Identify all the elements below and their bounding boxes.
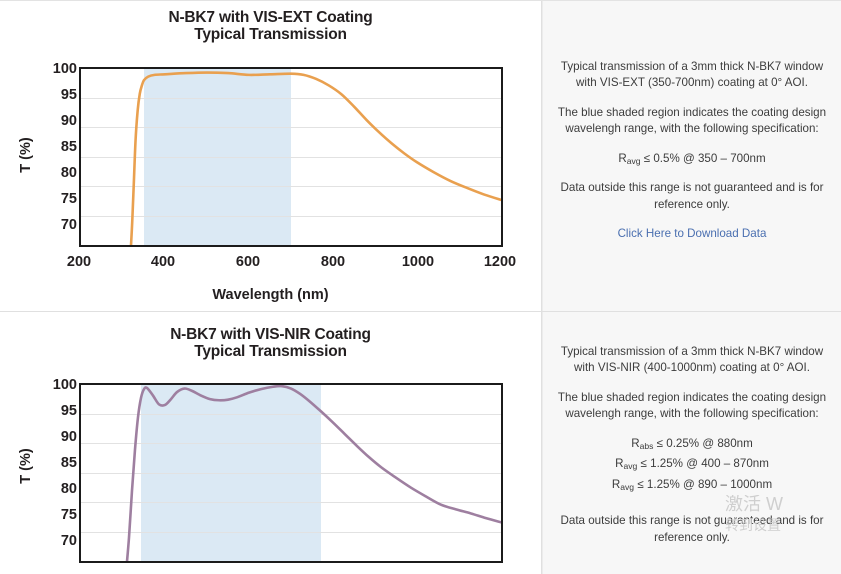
chart-title-line1: N-BK7 with VIS-EXT Coating [0,9,541,26]
chart-title-line1: N-BK7 with VIS-NIR Coating [0,326,541,343]
spec-symbol: R [618,152,626,165]
y-tick-80: 80 [61,166,77,181]
y-tick-80: 80 [61,482,77,497]
text-pane-vis-nir: Typical transmission of a 3mm thick N-BK… [542,312,841,574]
y-tick-100: 100 [53,62,77,77]
description-paragraph-1: Typical transmission of a 3mm thick N-BK… [557,59,827,92]
download-data-link[interactable]: Click Here to Download Data [618,227,767,240]
spec-value: ≤ 1.25% @ 890 – 1000nm [634,478,772,491]
y-axis-label-vis-ext: T (%) [18,125,34,185]
description-paragraph-3: Data outside this range is not guarantee… [557,513,827,546]
section-vis-nir: N-BK7 with VIS-NIR Coating Typical Trans… [0,311,841,574]
transmission-curve-vis-ext [81,69,501,245]
description-paragraph-1: Typical transmission of a 3mm thick N-BK… [557,344,827,377]
y-tick-75: 75 [61,508,77,523]
spec-line: Ravg ≤ 0.5% @ 350 – 700nm [557,151,827,167]
spec-subscript: avg [620,482,634,492]
y-tick-70: 70 [61,218,77,233]
chart-pane-vis-nir: N-BK7 with VIS-NIR Coating Typical Trans… [0,312,542,574]
x-tick-1000: 1000 [402,255,434,270]
spec-block-vis-ext: Ravg ≤ 0.5% @ 350 – 700nm [557,151,827,167]
x-tick-200: 200 [67,255,91,270]
description-paragraph-3: Data outside this range is not guarantee… [557,180,827,213]
y-tick-85: 85 [61,140,77,155]
chart-pane-vis-ext: N-BK7 with VIS-EXT Coating Typical Trans… [0,1,542,311]
spec-symbol: R [631,437,639,450]
spec-subscript: avg [627,156,641,166]
spec-subscript: avg [623,461,637,471]
x-tick-800: 800 [321,255,345,270]
spec-value: ≤ 1.25% @ 400 – 870nm [637,457,769,470]
x-tick-400: 400 [151,255,175,270]
y-tick-90: 90 [61,430,77,445]
spec-line: Ravg ≤ 1.25% @ 890 – 1000nm [557,477,827,493]
chart-title-vis-nir: N-BK7 with VIS-NIR Coating Typical Trans… [0,326,541,361]
description-paragraph-2: The blue shaded region indicates the coa… [557,105,827,138]
y-axis-label-vis-nir: T (%) [18,436,34,496]
spec-subscript: abs [640,441,654,451]
plot-area-vis-nir [79,383,503,563]
x-tick-600: 600 [236,255,260,270]
spec-value: ≤ 0.25% @ 880nm [653,437,752,450]
plot-area-vis-ext [79,67,503,247]
chart-title-line2: Typical Transmission [0,343,541,360]
description-paragraph-2: The blue shaded region indicates the coa… [557,390,827,423]
text-pane-vis-ext: Typical transmission of a 3mm thick N-BK… [542,1,841,311]
x-tick-1200: 1200 [484,255,516,270]
y-tick-95: 95 [61,88,77,103]
y-tick-85: 85 [61,456,77,471]
transmission-curve-vis-nir [81,385,501,561]
y-tick-100: 100 [53,378,77,393]
chart-title-line2: Typical Transmission [0,26,541,43]
y-tick-95: 95 [61,404,77,419]
spec-symbol: R [612,478,620,491]
x-axis-label-vis-ext: Wavelength (nm) [0,287,541,303]
y-tick-90: 90 [61,114,77,129]
spec-block-vis-nir: Rabs ≤ 0.25% @ 880nm Ravg ≤ 1.25% @ 400 … [557,436,827,493]
spec-line: Rabs ≤ 0.25% @ 880nm [557,436,827,452]
y-tick-70: 70 [61,534,77,549]
page-root: N-BK7 with VIS-EXT Coating Typical Trans… [0,0,841,574]
y-tick-75: 75 [61,192,77,207]
spec-value: ≤ 0.5% @ 350 – 700nm [641,152,766,165]
chart-title-vis-ext: N-BK7 with VIS-EXT Coating Typical Trans… [0,9,541,44]
spec-line: Ravg ≤ 1.25% @ 400 – 870nm [557,456,827,472]
section-vis-ext: N-BK7 with VIS-EXT Coating Typical Trans… [0,1,841,311]
